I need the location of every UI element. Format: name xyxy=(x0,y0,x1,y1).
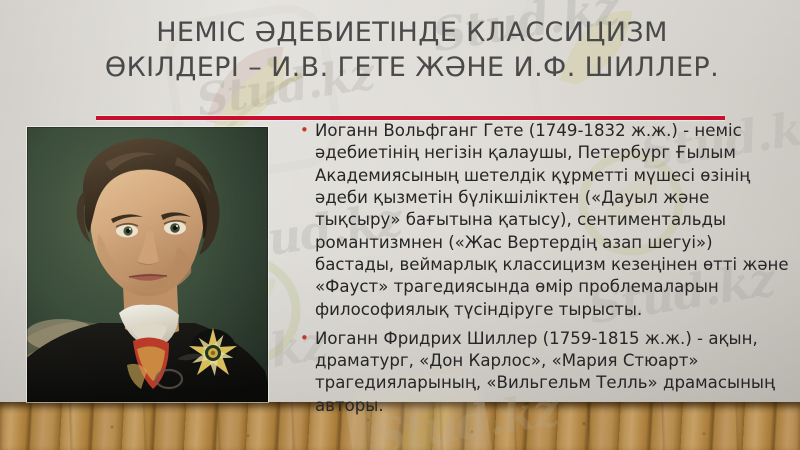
slide-title-line-1: НЕМІС ӘДЕБИЕТІНДЕ КЛАССИЦИЗМ xyxy=(96,16,728,51)
bullet-paragraph-text: Иоганн Фридрих Шиллер (1759-1815 ж.ж.) -… xyxy=(315,328,795,417)
slide-body-text: • Иоганн Вольфганг Гете (1749-1832 ж.ж.)… xyxy=(297,120,795,424)
slide-title: НЕМІС ӘДЕБИЕТІНДЕ КЛАССИЦИЗМ ӨКІЛДЕРІ – … xyxy=(96,16,728,85)
bullet-marker-icon: • xyxy=(297,120,315,141)
presentation-slide: Stud.kz Stud.kz Stud.kz Stud.kz Stud.kz … xyxy=(0,0,800,450)
bullet-paragraph-text: Иоганн Вольфганг Гете (1749-1832 ж.ж.) -… xyxy=(315,120,795,321)
bullet-paragraph: • Иоганн Вольфганг Гете (1749-1832 ж.ж.)… xyxy=(297,120,795,321)
bullet-marker-icon: • xyxy=(297,328,315,349)
goethe-portrait-image xyxy=(27,127,268,402)
bullet-paragraph: • Иоганн Фридрих Шиллер (1759-1815 ж.ж.)… xyxy=(297,328,795,417)
slide-title-line-2: ӨКІЛДЕРІ – И.В. ГЕТЕ ЖӘНЕ И.Ф. ШИЛЛЕР. xyxy=(96,51,728,86)
